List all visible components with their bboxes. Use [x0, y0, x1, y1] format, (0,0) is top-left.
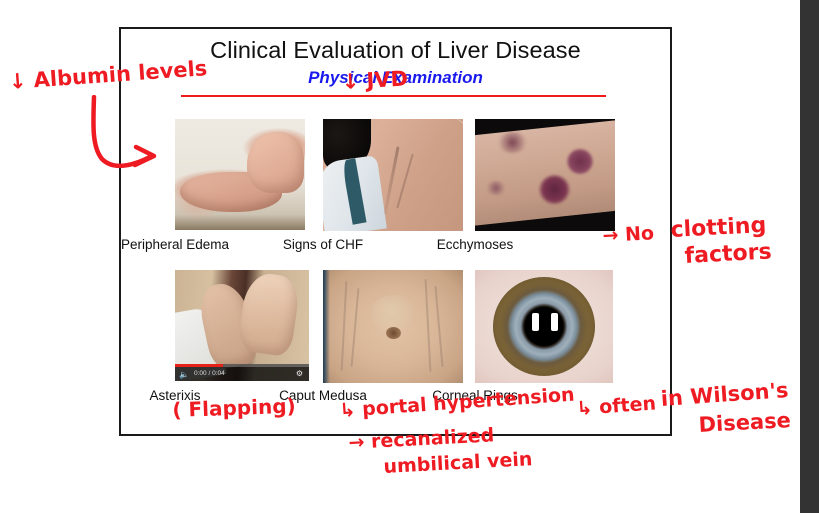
abdominal-vein [350, 288, 358, 367]
caption-signs-of-chf: Signs of CHF [283, 237, 363, 252]
video-control-bar[interactable]: 🔈 0:00 / 0:04 ⚙ [175, 364, 309, 381]
video-progress-track[interactable] [175, 364, 309, 367]
annotation-arrow-to-edema [88, 95, 160, 177]
asterixis-video[interactable]: 🔈 0:00 / 0:04 ⚙ [175, 270, 309, 381]
ecchymoses-image [475, 119, 615, 231]
annotation-factors: factors [684, 239, 772, 269]
screenshot-canvas: Clinical Evaluation of Liver Disease Phy… [0, 0, 819, 513]
image-edge-shadow [323, 270, 330, 383]
patient-hand-right [237, 271, 301, 358]
speaker-icon[interactable]: 🔈 [179, 370, 189, 379]
eye-kayser-fleischer-ring-photo [475, 270, 613, 383]
iris-with-corneal-ring [493, 277, 595, 376]
nasal-cannula-tubing [366, 119, 463, 231]
signs-of-chf-image [323, 119, 463, 231]
annotation-clotting: clotting [670, 213, 767, 243]
annotation-no-lead: → No [602, 222, 655, 247]
bruise-spot [567, 149, 592, 174]
corneal-light-reflection [532, 313, 539, 332]
abdominal-vein [424, 279, 430, 372]
umbilicus [386, 327, 401, 339]
video-progress-fill [175, 364, 223, 367]
abdominal-vein [340, 281, 346, 371]
hands-flapping-video-still: 🔈 0:00 / 0:04 ⚙ [175, 270, 309, 381]
neck-jvd-photo [323, 119, 463, 231]
annotation-disease: Disease [698, 408, 791, 437]
caput-medusa-image [323, 270, 463, 383]
gear-icon[interactable]: ⚙ [296, 369, 303, 378]
annotation-wilsons: in Wilson's [660, 378, 789, 411]
swollen-foot-photo [175, 119, 305, 230]
bruised-skin-photo [475, 119, 615, 231]
abdomen-dilated-veins-photo [323, 270, 463, 383]
bruise-spot [497, 132, 528, 152]
forearm-region [475, 120, 615, 225]
annotation-umbilical-vein: umbilical vein [383, 448, 533, 478]
corneal-rings-image [475, 270, 613, 383]
bruise-spot [486, 181, 506, 196]
annotation-jvd: ↓ JVD [341, 67, 409, 94]
annotation-flapping: ( Flapping) [172, 394, 296, 422]
video-time-display: 0:00 / 0:04 [194, 369, 225, 379]
peripheral-edema-image [175, 119, 305, 230]
caption-peripheral-edema: Peripheral Edema [121, 237, 229, 252]
abdominal-vein [434, 286, 443, 367]
right-edge-strip [800, 0, 819, 513]
corneal-light-reflection [551, 313, 558, 332]
caption-ecchymoses: Ecchymoses [437, 237, 514, 252]
